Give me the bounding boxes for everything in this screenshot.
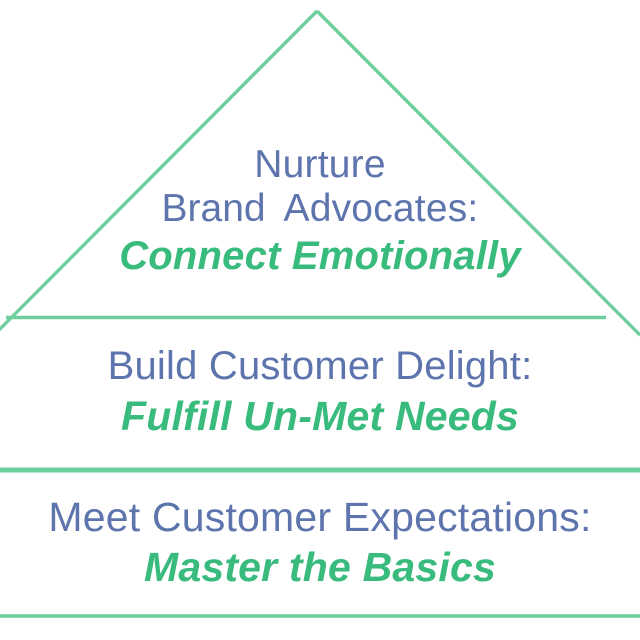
tier-1-title-line-2: Brand Advocates: <box>0 188 640 230</box>
tier-1-subtitle: Connect Emotionally <box>0 234 640 279</box>
tier-1-title-line-1: Nurture <box>254 143 385 186</box>
tier-2-subtitle: Fulfill Un-Met Needs <box>0 394 640 440</box>
pyramid-diagram: Nurture Brand Advocates: Connect Emotion… <box>0 0 640 640</box>
tier-nurture-brand-advocates: Nurture Brand Advocates: Connect Emotion… <box>0 144 640 279</box>
tier-build-customer-delight: Build Customer Delight: Fulfill Un-Met N… <box>0 345 640 440</box>
tier-1-title: Nurture Brand Advocates: <box>0 144 640 230</box>
tier-2-title: Build Customer Delight: <box>0 345 640 388</box>
tier-3-title: Meet Customer Expectations: <box>0 495 640 539</box>
tier-1-title-word-advocates: Advocates: <box>284 187 479 230</box>
tier-1-title-word-brand: Brand <box>162 187 275 230</box>
tier-meet-customer-expectations: Meet Customer Expectations: Master the B… <box>0 495 640 591</box>
tier-3-subtitle: Master the Basics <box>0 545 640 591</box>
